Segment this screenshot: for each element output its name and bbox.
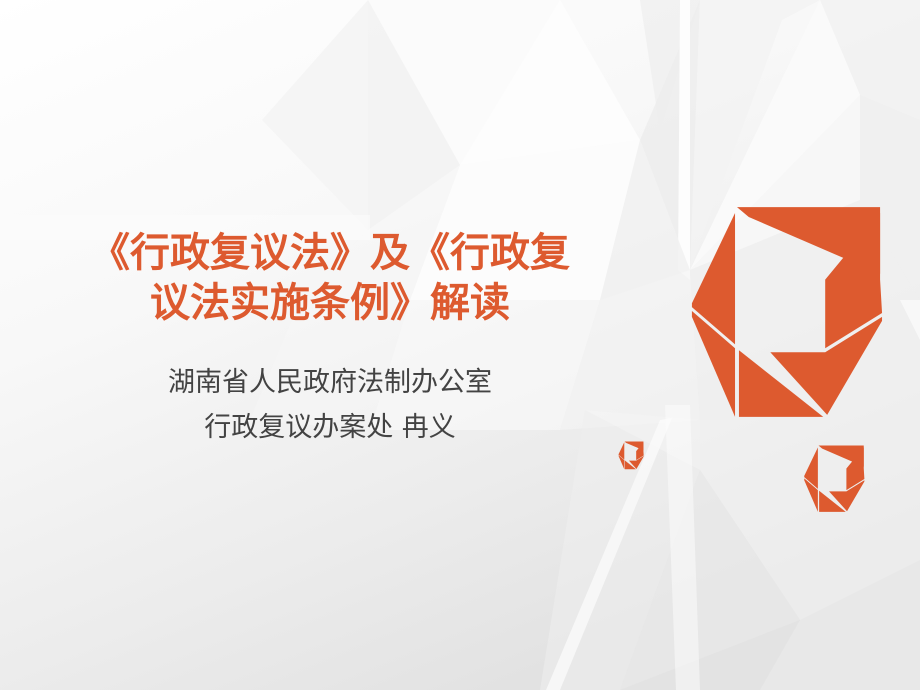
hexagon-aperture-logo (688, 203, 884, 423)
title-line-2: 议法实施条例》解读 (40, 278, 620, 328)
title-slide: 《行政复议法》及《行政复 议法实施条例》解读 湖南省人民政府法制办公室 行政复议… (0, 0, 920, 690)
slide-title: 《行政复议法》及《行政复 议法实施条例》解读 (40, 228, 620, 328)
title-line-1: 《行政复议法》及《行政复 (40, 228, 620, 278)
hexagon-aperture-logo-small (618, 441, 644, 470)
subtitle-line-2: 行政复议办案处 冉义 (40, 405, 620, 450)
subtitle-line-1: 湖南省人民政府法制办公室 (40, 360, 620, 405)
slide-subtitle: 湖南省人民政府法制办公室 行政复议办案处 冉义 (40, 360, 620, 450)
hexagon-aperture-logo-medium (803, 444, 865, 514)
